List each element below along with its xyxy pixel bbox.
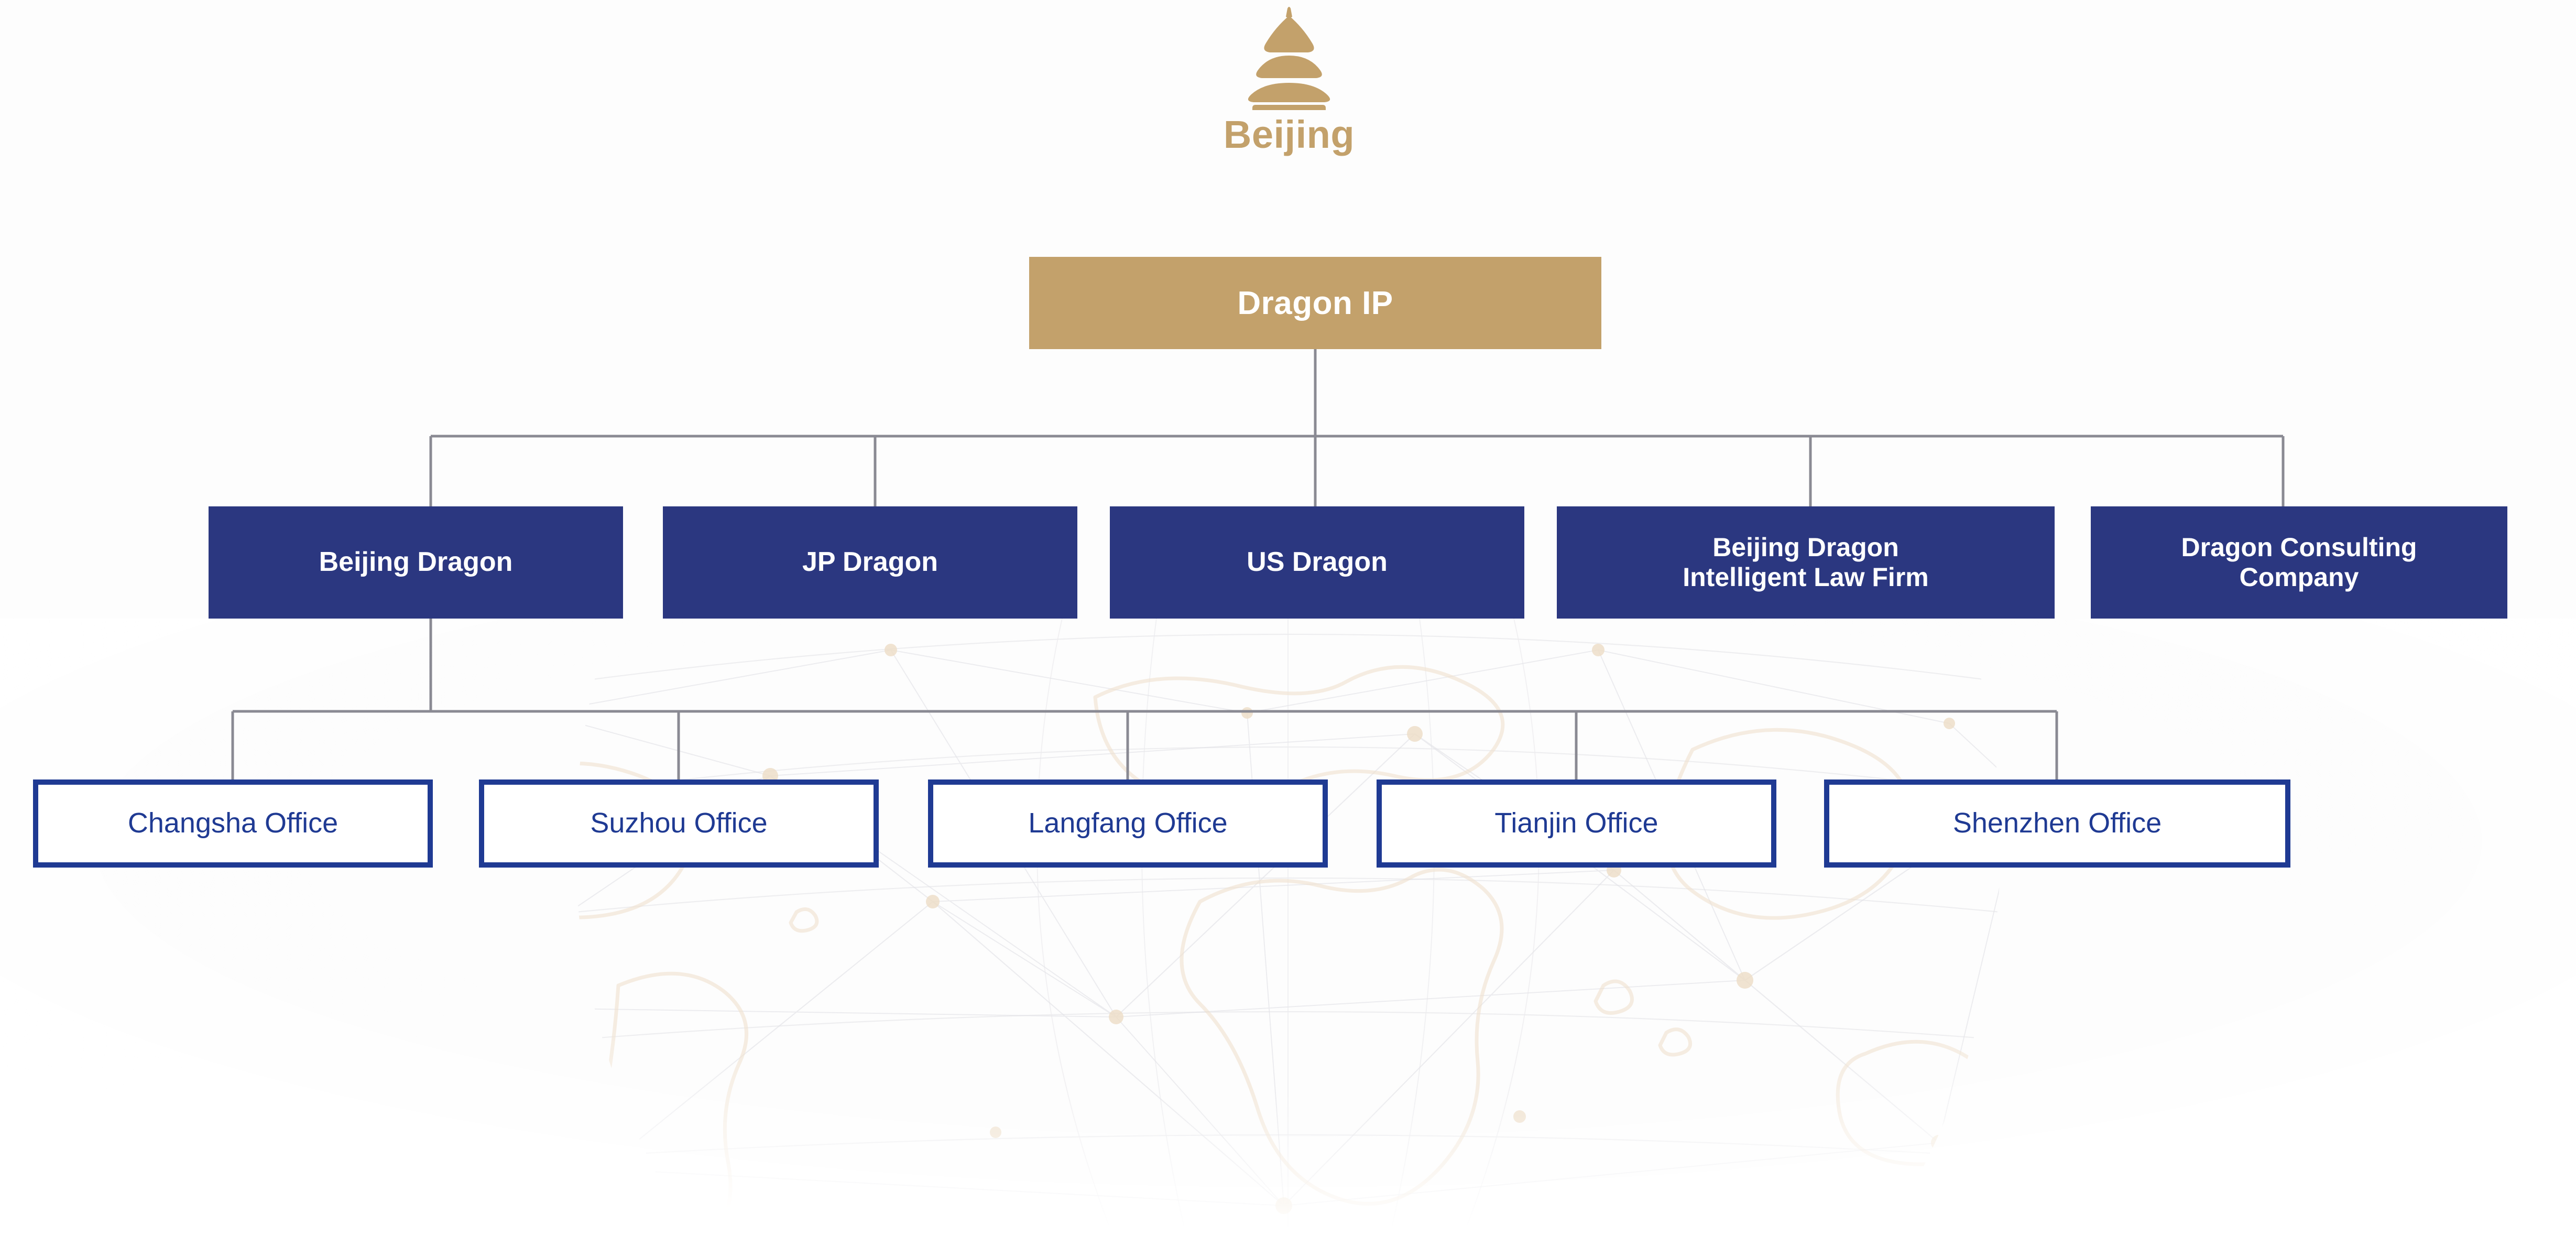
node-office-suzhou-office[interactable]: Suzhou Office bbox=[479, 779, 879, 868]
node-label: Suzhou Office bbox=[484, 808, 874, 839]
node-label: Tianjin Office bbox=[1382, 808, 1771, 839]
node-label: Changsha Office bbox=[38, 808, 428, 839]
node-label: JP Dragon bbox=[668, 547, 1072, 578]
node-dragon-ip[interactable]: Dragon IP bbox=[1029, 257, 1601, 349]
node-label: Langfang Office bbox=[933, 808, 1323, 839]
node-label: Beijing DragonIntelligent Law Firm bbox=[1562, 533, 2049, 592]
node-division-jp-dragon[interactable]: JP Dragon bbox=[663, 506, 1077, 619]
node-label: Shenzhen Office bbox=[1829, 808, 2285, 839]
node-division-us-dragon[interactable]: US Dragon bbox=[1110, 506, 1524, 619]
connector-lines bbox=[0, 0, 2576, 1256]
city-label: Beijing bbox=[1210, 115, 1368, 154]
node-division-beijing-dragon[interactable]: Beijing Dragon bbox=[209, 506, 623, 619]
node-label: Beijing Dragon bbox=[214, 547, 618, 578]
node-division-dragon-consulting-company[interactable]: Dragon ConsultingCompany bbox=[2091, 506, 2507, 619]
globe-network-background bbox=[0, 619, 2576, 1256]
city-header: Beijing bbox=[1210, 5, 1368, 154]
node-office-shenzhen-office[interactable]: Shenzhen Office bbox=[1824, 779, 2290, 868]
node-office-tianjin-office[interactable]: Tianjin Office bbox=[1377, 779, 1776, 868]
node-office-changsha-office[interactable]: Changsha Office bbox=[33, 779, 433, 868]
node-label: US Dragon bbox=[1115, 547, 1519, 578]
node-label: Dragon IP bbox=[1029, 285, 1601, 322]
pagoda-temple-of-heaven-icon bbox=[1231, 5, 1347, 110]
node-office-langfang-office[interactable]: Langfang Office bbox=[928, 779, 1328, 868]
node-division-beijing-dragon-intelligent-law-firm[interactable]: Beijing DragonIntelligent Law Firm bbox=[1557, 506, 2055, 619]
node-label: Dragon ConsultingCompany bbox=[2096, 533, 2502, 592]
org-chart-canvas: Beijing Dragon IP Beijing DragonJP Drago… bbox=[0, 0, 2576, 1256]
